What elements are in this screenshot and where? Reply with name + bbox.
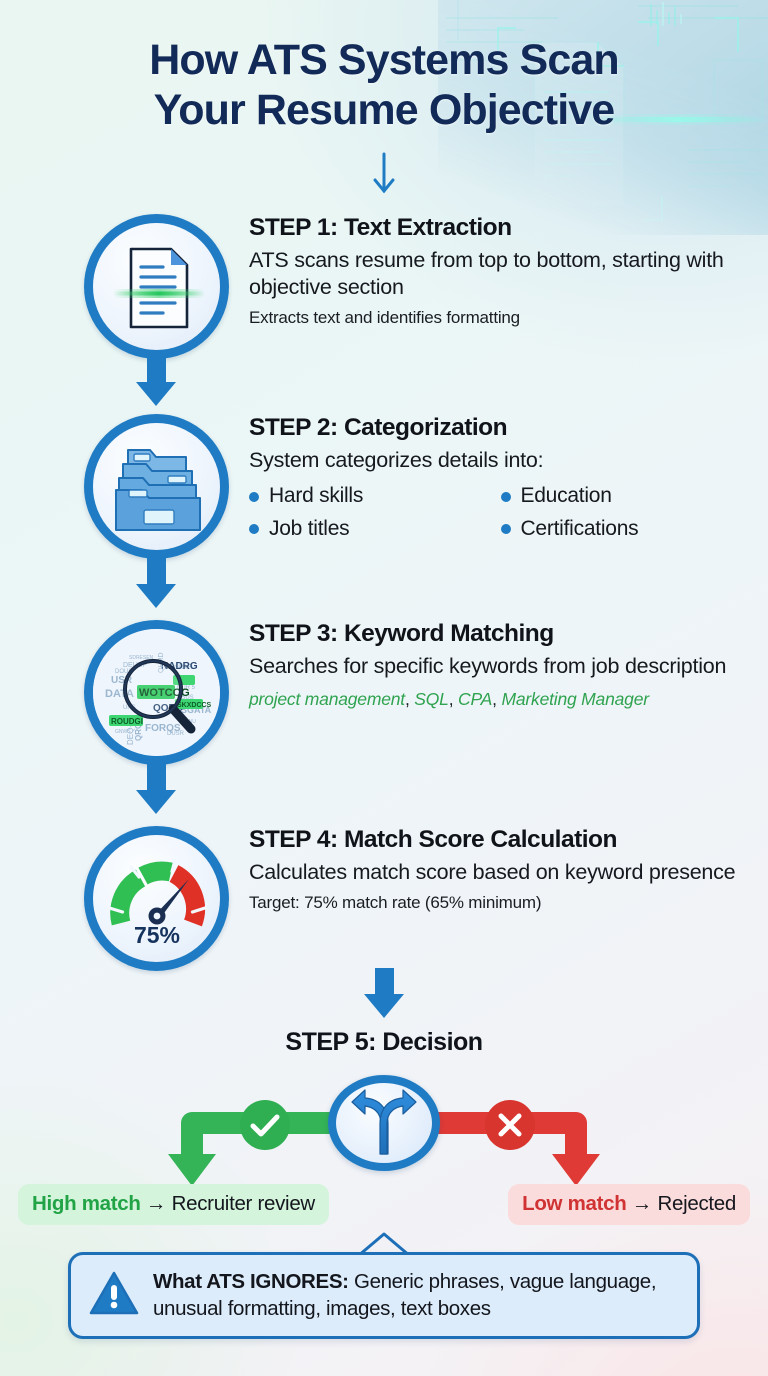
- step-2-bullet-list: Hard skills Education Job titles Certifi…: [249, 480, 752, 545]
- check-circle-icon: [238, 1098, 292, 1157]
- warning-triangle-icon: [89, 1270, 139, 1321]
- step-3-keywords: project management, SQL, CPA, Marketing …: [249, 689, 752, 710]
- bullet-dot-icon: [501, 524, 511, 534]
- step-4-text: STEP 4: Match Score Calculation Calculat…: [249, 826, 752, 913]
- ats-ignores-label: What ATS IGNORES:: [153, 1270, 349, 1293]
- list-item: Hard skills: [249, 480, 501, 513]
- page-title: How ATS Systems Scan Your Resume Objecti…: [0, 36, 768, 136]
- step-2-text: STEP 2: Categorization System categorize…: [249, 414, 752, 545]
- keyword-1: SQL: [414, 689, 448, 709]
- page-title-line2: Your Resume Objective: [0, 86, 768, 136]
- step-2-body: System categorizes details into:: [249, 447, 752, 474]
- connector-arrow-4: [0, 968, 768, 1033]
- list-item: Job titles: [249, 513, 501, 546]
- step-1-body: ATS scans resume from top to bottom, sta…: [249, 247, 752, 301]
- page-title-line1: How ATS Systems Scan: [0, 36, 768, 86]
- connector-arrow-3: [0, 760, 768, 827]
- document-scan-icon: [93, 223, 220, 350]
- ats-ignores-text: What ATS IGNORES: Generic phrases, vague…: [153, 1269, 677, 1322]
- step-2-heading: STEP 2: Categorization: [249, 414, 752, 442]
- decision-badge: [328, 1075, 440, 1171]
- keyword-0: project management: [249, 689, 405, 709]
- bullet-label: Job titles: [269, 513, 349, 546]
- intro-down-arrow-icon: [0, 152, 768, 201]
- bad-outcome-bold: Low match: [522, 1192, 626, 1215]
- step-3-heading: STEP 3: Keyword Matching: [249, 620, 752, 648]
- svg-text:ROUDGI: ROUDGI: [111, 717, 143, 726]
- bullet-label: Education: [521, 480, 612, 513]
- magnifier-wordcloud-icon: USR DATA DEUSP DOUS SDRESEN SSRAFI CUR 5…: [93, 629, 220, 756]
- bad-outcome-rest: → Rejected: [632, 1192, 736, 1215]
- step-4-sub: Target: 75% match rate (65% minimum): [249, 893, 752, 913]
- list-item: Certifications: [501, 513, 753, 546]
- step-1-badge: [84, 214, 229, 359]
- step-1-sub: Extracts text and identifies formatting: [249, 308, 752, 328]
- infographic-page: How ATS Systems Scan Your Resume Objecti…: [0, 0, 768, 1376]
- good-outcome-badge: High match → Recruiter review: [18, 1184, 329, 1225]
- connector-arrow-1: [0, 352, 768, 419]
- bullet-dot-icon: [249, 492, 259, 502]
- step-4-heading: STEP 4: Match Score Calculation: [249, 826, 752, 854]
- x-circle-icon: [483, 1098, 537, 1157]
- step-5-heading: STEP 5: Decision: [0, 1028, 768, 1057]
- connector-arrow-2: [0, 554, 768, 621]
- step-2-badge: [84, 414, 229, 559]
- good-outcome-rest: → Recruiter review: [146, 1192, 315, 1215]
- step-3-badge: USR DATA DEUSP DOUS SDRESEN SSRAFI CUR 5…: [84, 620, 229, 765]
- svg-text:SKXDCCS: SKXDCCS: [177, 702, 212, 709]
- bullet-dot-icon: [501, 492, 511, 502]
- gauge-value: 75%: [133, 922, 179, 948]
- step-1-heading: STEP 1: Text Extraction: [249, 214, 752, 242]
- svg-text:DUSR: DUSR: [167, 731, 185, 737]
- keyword-3: Marketing Manager: [501, 689, 648, 709]
- step-1-text: STEP 1: Text Extraction ATS scans resume…: [249, 214, 752, 328]
- good-outcome-bold: High match: [32, 1192, 141, 1215]
- step-3-body: Searches for specific keywords from job …: [249, 653, 752, 680]
- bullet-dot-icon: [249, 524, 259, 534]
- gauge-icon: 75%: [93, 835, 220, 962]
- folders-icon: [93, 423, 220, 550]
- ats-ignores-note: What ATS IGNORES: Generic phrases, vague…: [68, 1252, 700, 1339]
- step-3-text: STEP 3: Keyword Matching Searches for sp…: [249, 620, 752, 710]
- keyword-2: CPA: [458, 689, 492, 709]
- step-4-badge: 75%: [84, 826, 229, 971]
- bullet-label: Hard skills: [269, 480, 363, 513]
- step-4-body: Calculates match score based on keyword …: [249, 859, 752, 886]
- bullet-label: Certifications: [521, 513, 639, 546]
- bad-outcome-badge: Low match → Rejected: [508, 1184, 750, 1225]
- list-item: Education: [501, 480, 753, 513]
- fork-arrows-icon: [336, 1083, 432, 1163]
